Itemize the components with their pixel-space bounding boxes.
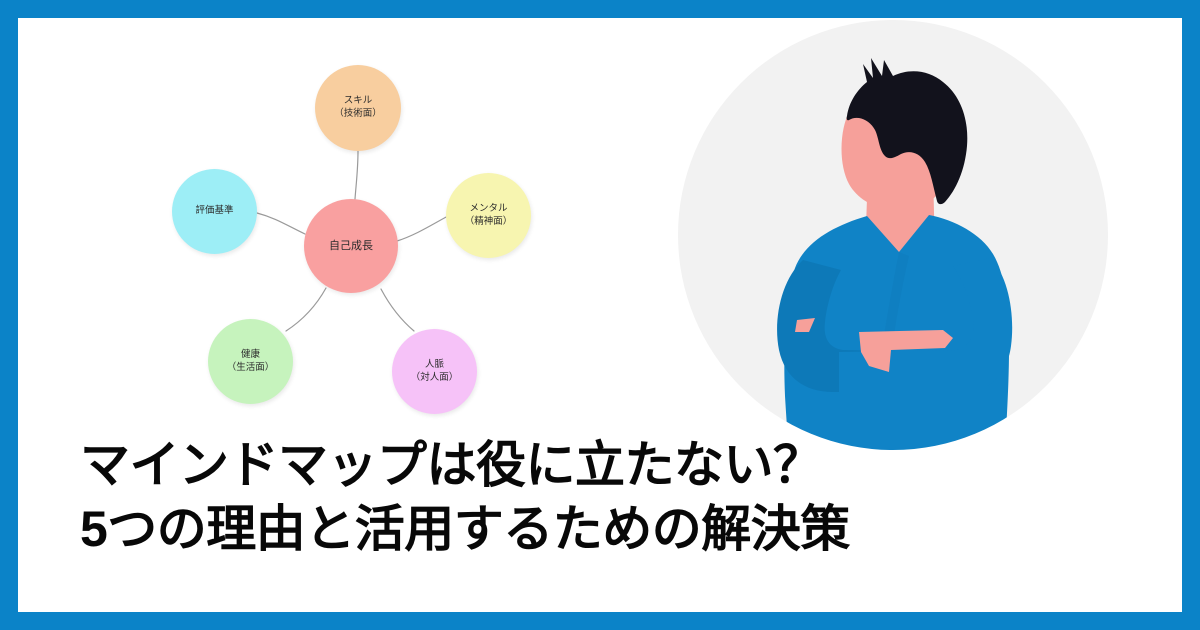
person-illustration: [653, 20, 1133, 450]
person-illustration-svg: [653, 20, 1133, 450]
mindmap-node-skill-label-2: （技術面）: [334, 108, 382, 121]
content-card: 自己成長 スキル （技術面） メンタル （精神面） 評価基準 健康 （生活面） …: [18, 18, 1182, 612]
mindmap-node-mental-label-1: メンタル: [469, 203, 507, 216]
mindmap-node-center-label: 自己成長: [329, 239, 373, 254]
mindmap-node-skill: スキル （技術面）: [315, 65, 401, 151]
page-title-line-1: マインドマップは役に立たない？: [80, 433, 1080, 497]
mindmap-node-health-label-2: （生活面）: [227, 362, 275, 375]
mindmap-node-health: 健康 （生活面）: [208, 319, 293, 404]
mindmap-node-mental-label-2: （精神面）: [465, 216, 513, 229]
mindmap-node-network-label-1: 人脈: [425, 359, 444, 372]
mindmap-node-health-label-1: 健康: [241, 349, 260, 362]
mindmap-node-skill-label-1: スキル: [344, 95, 373, 108]
mindmap-node-center: 自己成長: [304, 199, 398, 293]
page-title-line-2: 5つの理由と活用するための解決策: [80, 497, 1080, 561]
og-image-canvas: 自己成長 スキル （技術面） メンタル （精神面） 評価基準 健康 （生活面） …: [0, 0, 1200, 630]
mindmap-node-network-label-2: （対人面）: [411, 372, 459, 385]
mindmap-node-evaluation-label-1: 評価基準: [195, 205, 233, 218]
mindmap-node-mental: メンタル （精神面）: [446, 173, 531, 258]
mindmap-node-network: 人脈 （対人面）: [392, 329, 477, 414]
mindmap-diagram: 自己成長 スキル （技術面） メンタル （精神面） 評価基準 健康 （生活面） …: [148, 38, 568, 438]
page-title: マインドマップは役に立たない？ 5つの理由と活用するための解決策: [80, 433, 1080, 561]
mindmap-node-evaluation: 評価基準: [172, 169, 257, 254]
